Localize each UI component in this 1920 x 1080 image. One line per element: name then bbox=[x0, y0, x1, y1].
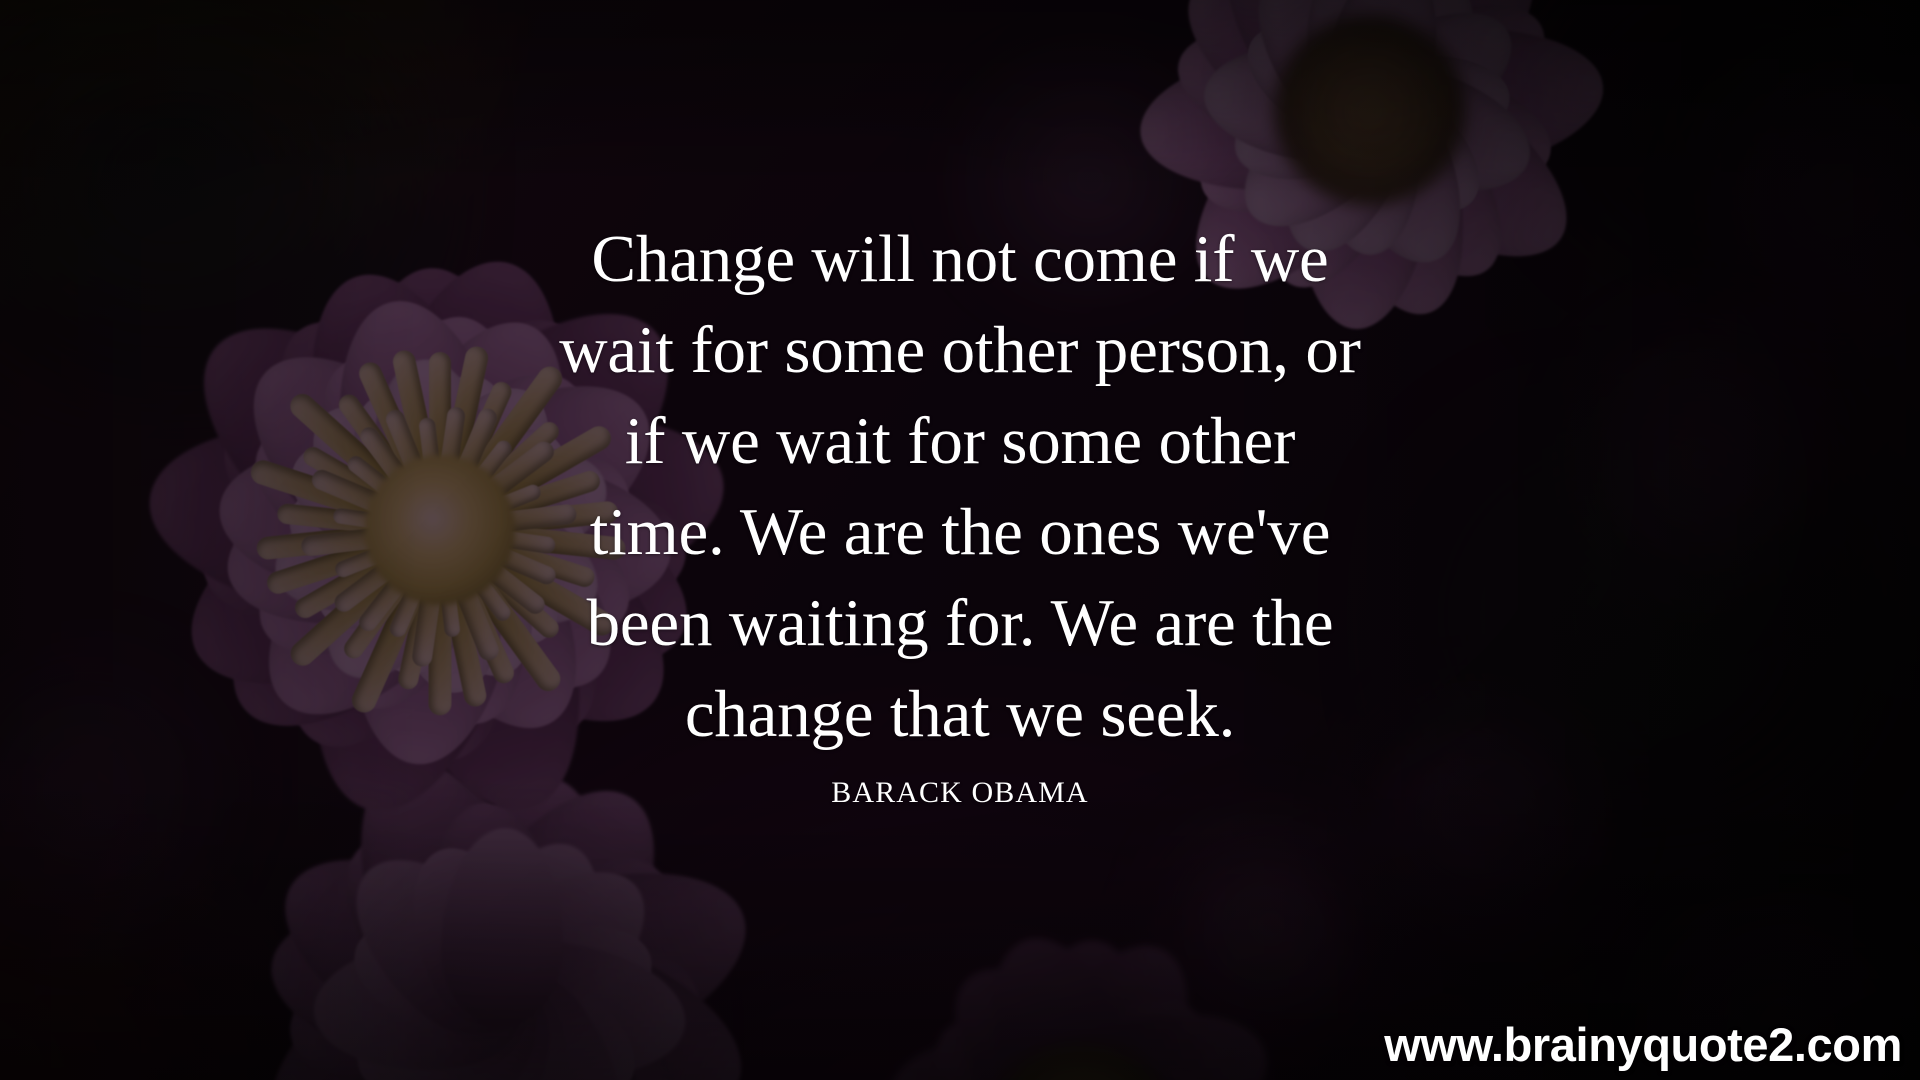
quote-author: BARACK OBAMA bbox=[831, 776, 1088, 810]
quote-line: been waiting for. We are the bbox=[460, 578, 1460, 669]
quote-card: Change will not come if we wait for some… bbox=[0, 0, 1920, 1080]
quote-line: time. We are the ones we've bbox=[460, 487, 1460, 578]
quote-text: Change will not come if we wait for some… bbox=[460, 214, 1460, 760]
quote-line: if we wait for some other bbox=[460, 396, 1460, 487]
quote-line: Change will not come if we bbox=[460, 214, 1460, 305]
website-watermark: www.brainyquote2.com bbox=[1384, 1017, 1902, 1072]
text-overlay: Change will not come if we wait for some… bbox=[0, 0, 1920, 1080]
quote-line: change that we seek. bbox=[460, 669, 1460, 760]
quote-line: wait for some other person, or bbox=[460, 305, 1460, 396]
